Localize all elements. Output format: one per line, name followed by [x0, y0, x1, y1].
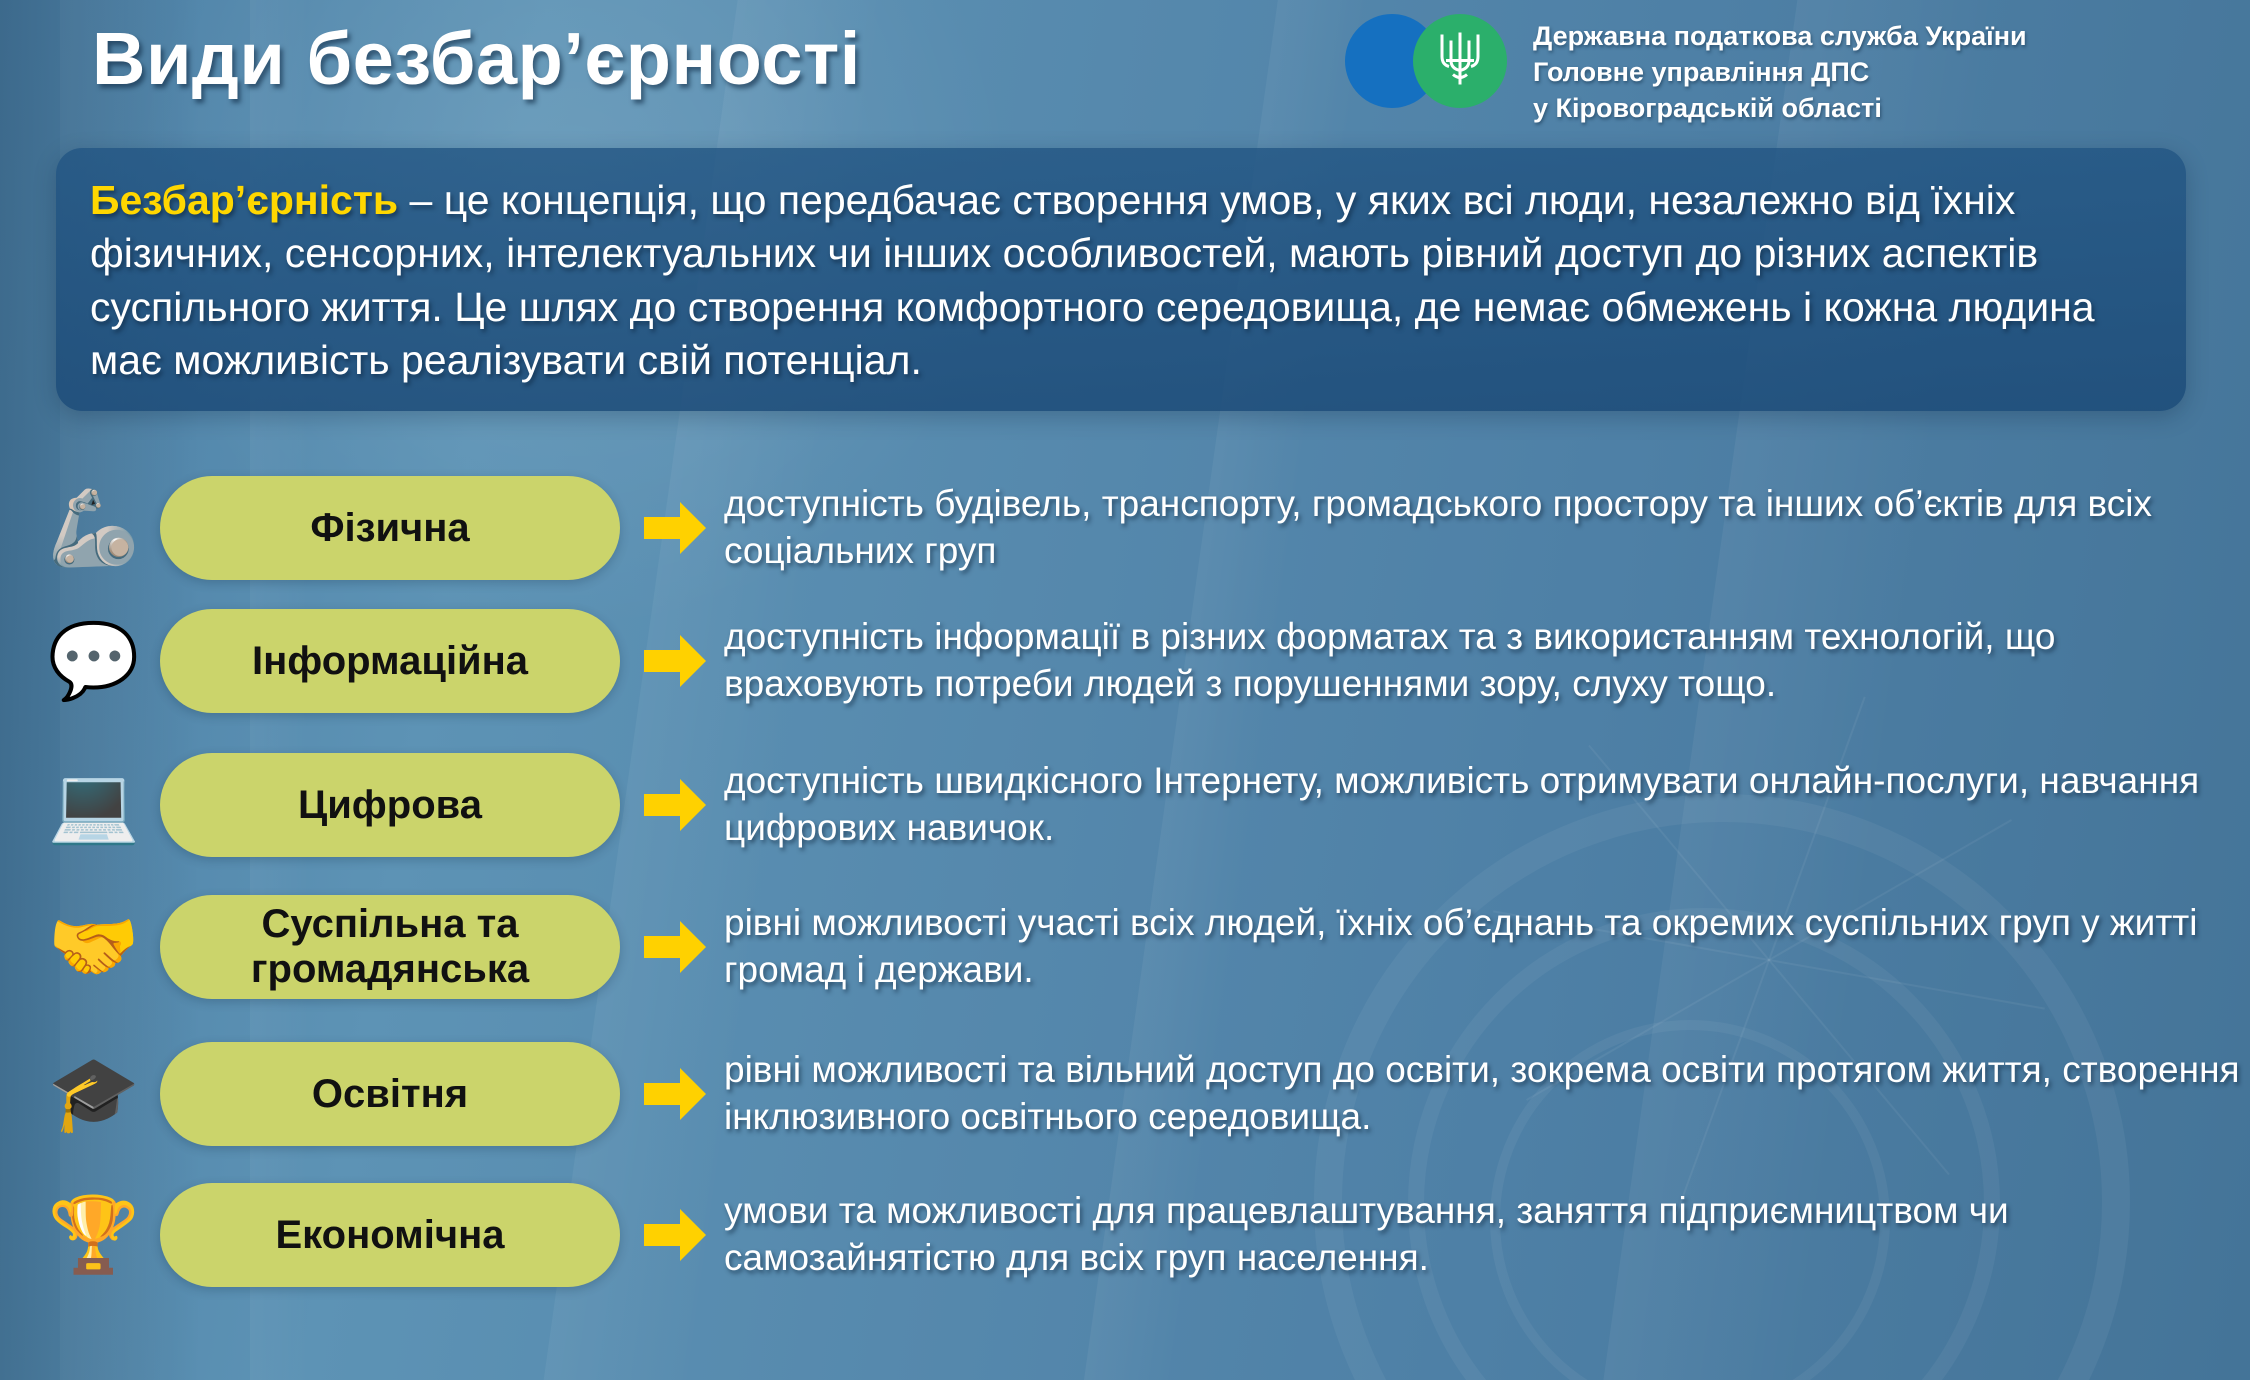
- category-row: 🤝 Суспільна та громадянська рівні можлив…: [40, 876, 2250, 1018]
- category-label: Цифрова: [298, 783, 482, 828]
- category-description: рівні можливості та вільний доступ до ос…: [724, 1047, 2250, 1140]
- organization-name: Державна податкова служба України Головн…: [1533, 14, 2027, 127]
- category-pill-educational[interactable]: Освітня: [160, 1042, 620, 1146]
- speech-balloon-icon: 💬: [40, 624, 148, 698]
- category-label: Фізична: [310, 506, 469, 551]
- category-description: рівні можливості участі всіх людей, їхні…: [724, 900, 2250, 993]
- organization-line-3: у Кіровоградській області: [1533, 90, 2027, 126]
- category-pill-physical[interactable]: Фізична: [160, 476, 620, 580]
- category-pill-informational[interactable]: Інформаційна: [160, 609, 620, 713]
- category-pill-economic[interactable]: Економічна: [160, 1183, 620, 1287]
- mechanical-arm-icon: 🦾: [40, 491, 148, 565]
- definition-text: Безбар’єрність – це концепція, що передб…: [90, 174, 2152, 387]
- definition-panel: Безбар’єрність – це концепція, що передб…: [56, 148, 2186, 411]
- arrow-right-icon: [638, 1065, 712, 1123]
- category-pill-social-civic[interactable]: Суспільна та громадянська: [160, 895, 620, 999]
- organization-line-2: Головне управління ДПС: [1533, 54, 2027, 90]
- category-label: Інформаційна: [252, 639, 528, 684]
- arrow-right-icon: [638, 632, 712, 690]
- category-pill-digital[interactable]: Цифрова: [160, 753, 620, 857]
- category-list: 🦾 Фізична доступність будівель, транспор…: [40, 468, 2250, 1300]
- organization-line-1: Державна податкова служба України: [1533, 18, 2027, 54]
- category-row: 💬 Інформаційна доступність інформації в …: [40, 588, 2250, 734]
- category-row: 💻 Цифрова доступність швидкісного Інтерн…: [40, 734, 2250, 876]
- graduation-cap-icon: 🎓: [40, 1057, 148, 1131]
- logo-green-circle: [1413, 14, 1507, 108]
- category-label: Освітня: [312, 1072, 468, 1117]
- arrow-right-icon: [638, 1206, 712, 1264]
- arrow-right-icon: [638, 776, 712, 834]
- category-row: 🦾 Фізична доступність будівель, транспор…: [40, 468, 2250, 588]
- category-description: умови та можливості для працевлаштування…: [724, 1188, 2250, 1281]
- category-label: Економічна: [275, 1213, 504, 1258]
- category-description: доступність швидкісного Інтернету, можли…: [724, 758, 2250, 851]
- category-row: 🎓 Освітня рівні можливості та вільний до…: [40, 1018, 2250, 1170]
- definition-term: Безбар’єрність: [90, 177, 398, 223]
- category-label: Суспільна та громадянська: [160, 902, 620, 992]
- laptop-icon: 💻: [40, 768, 148, 842]
- trophy-icon: 🏆: [40, 1198, 148, 1272]
- trident-icon: [1437, 31, 1483, 92]
- arrow-right-icon: [638, 499, 712, 557]
- organization-logo: Державна податкова служба України Головн…: [1345, 14, 2027, 127]
- arrow-right-icon: [638, 918, 712, 976]
- category-description: доступність будівель, транспорту, громад…: [724, 481, 2250, 574]
- handshake-icon: 🤝: [40, 910, 148, 984]
- page-title: Види безбар’єрності: [92, 16, 861, 101]
- category-row: 🏆 Економічна умови та можливості для пра…: [40, 1170, 2250, 1300]
- category-description: доступність інформації в різних форматах…: [724, 614, 2250, 707]
- header: Види безбар’єрності Державна податкова: [0, 0, 2250, 112]
